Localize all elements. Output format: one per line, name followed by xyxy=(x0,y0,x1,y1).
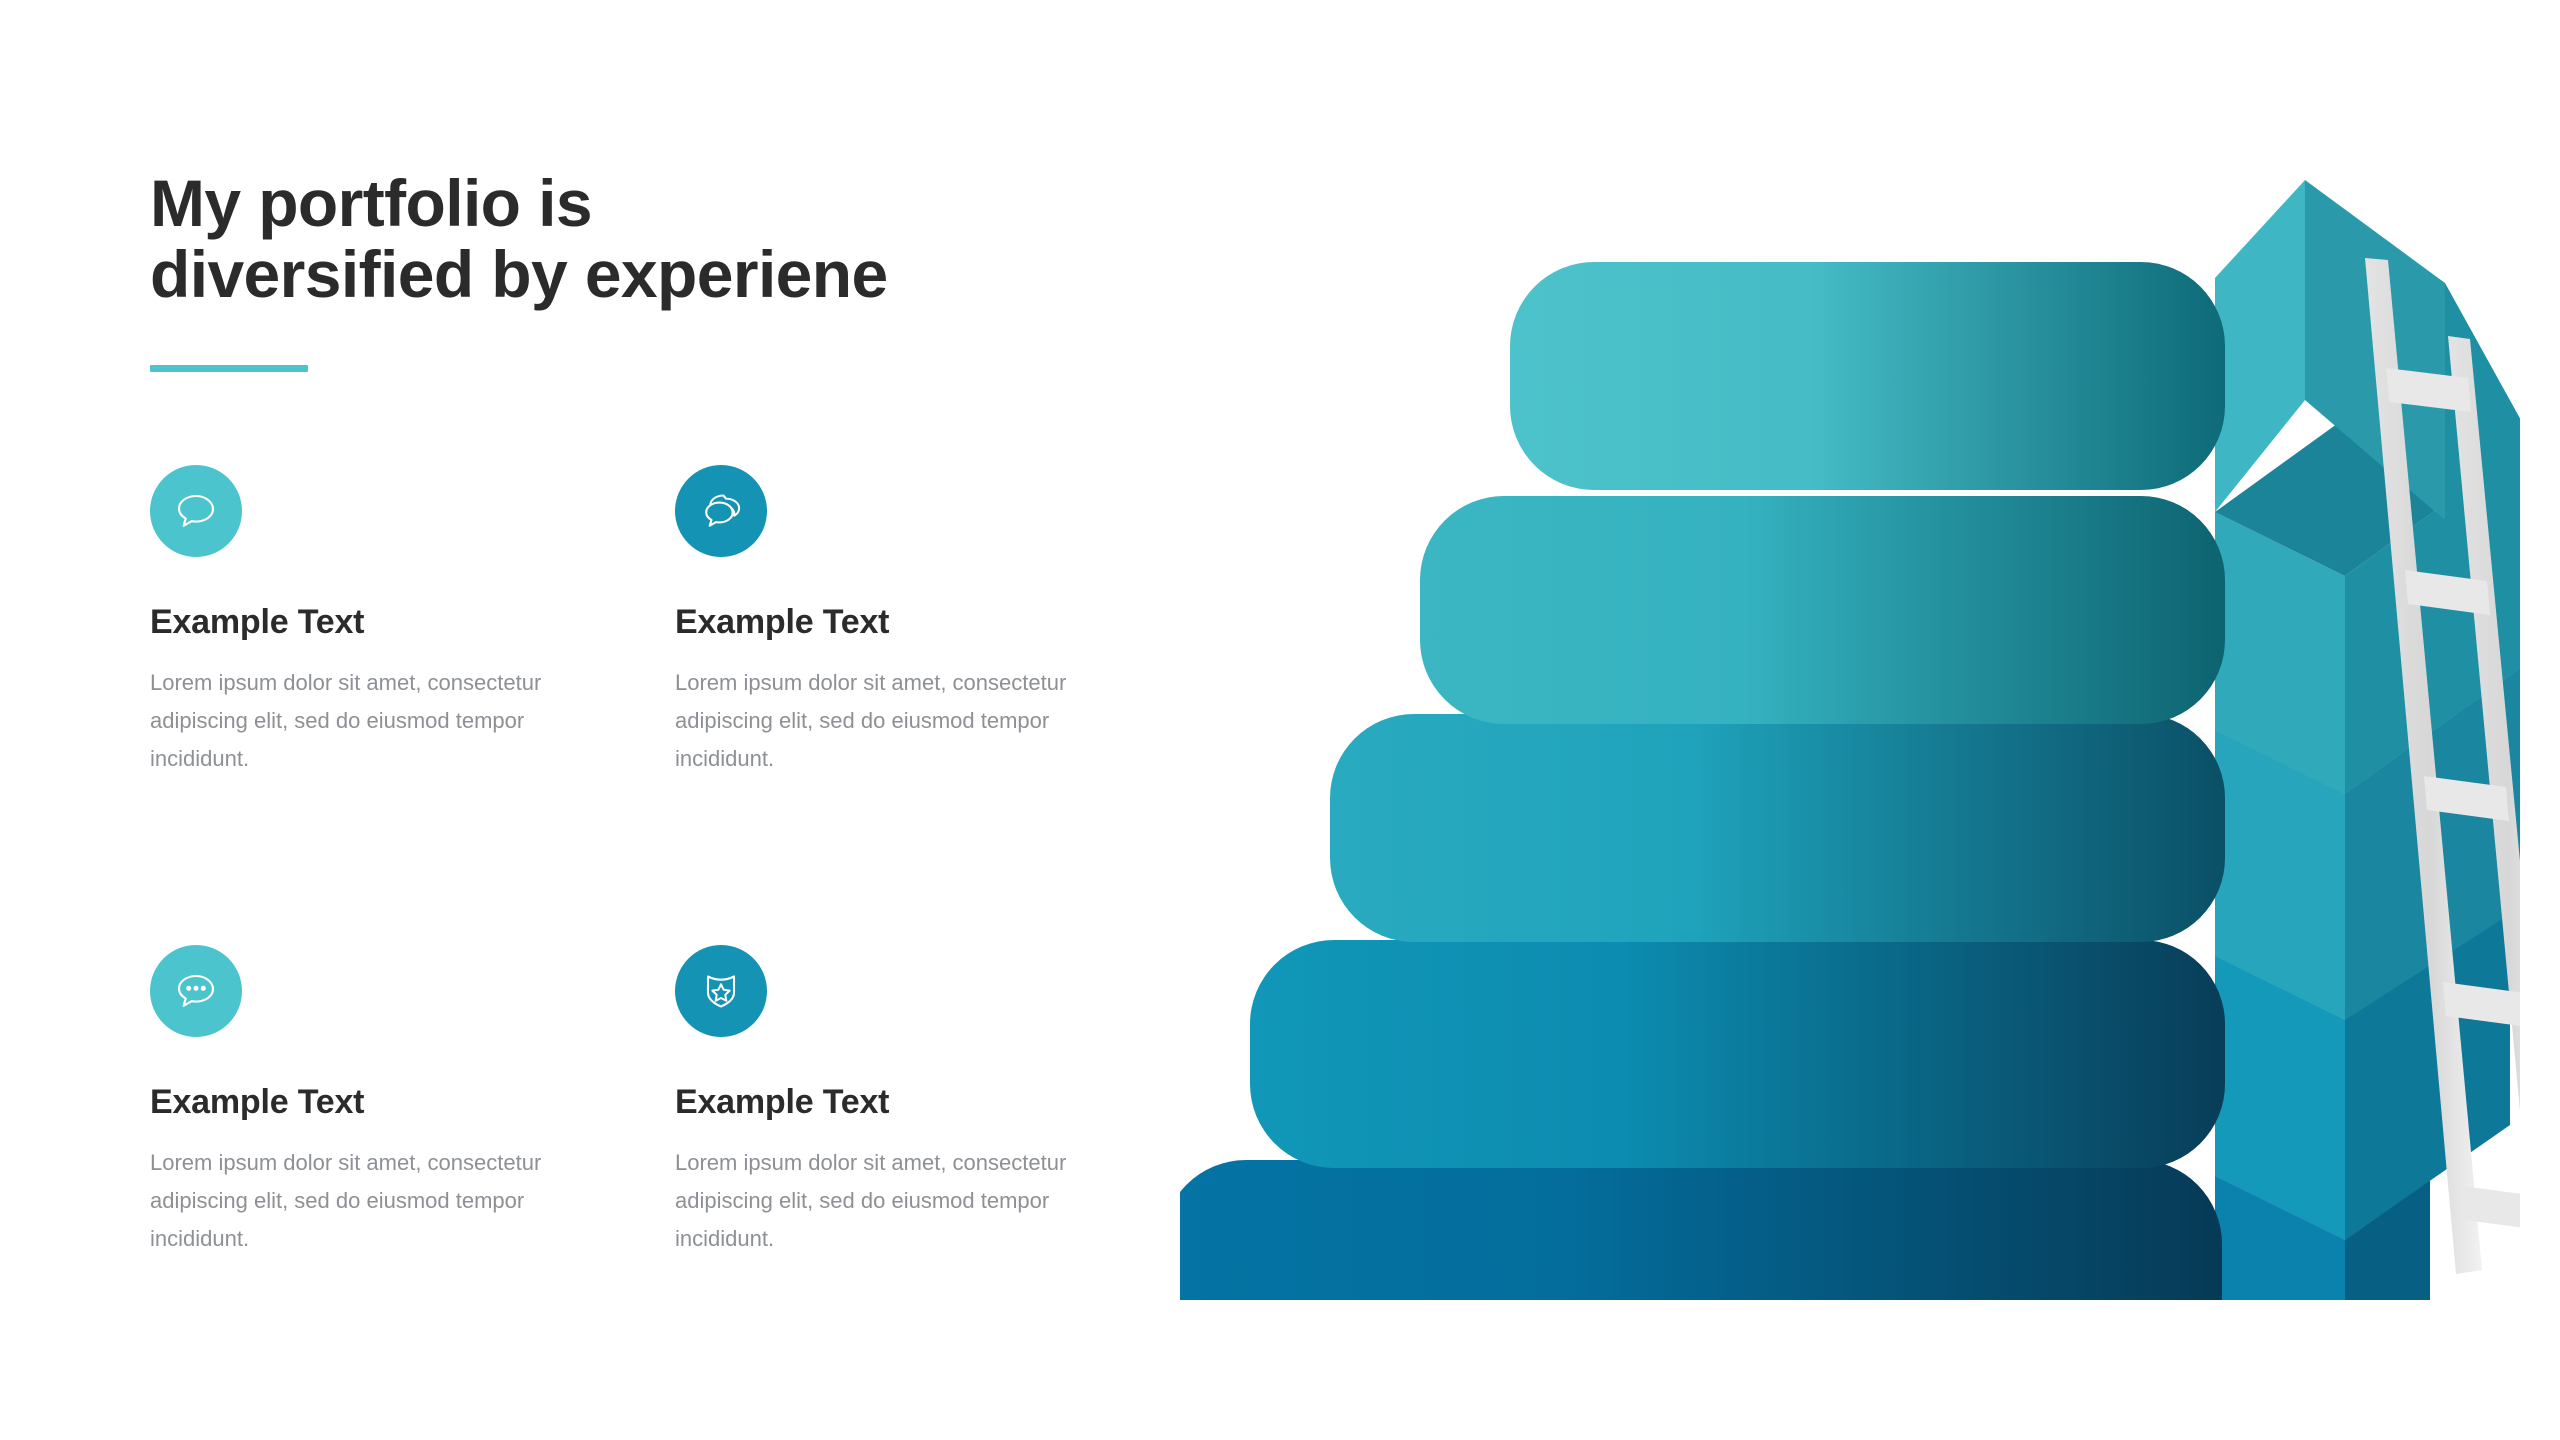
feature-item-3: Example Text Lorem ipsum dolor sit amet,… xyxy=(150,945,620,1257)
feature-body: Lorem ipsum dolor sit amet, consectetur … xyxy=(675,1144,1115,1257)
feature-title: Example Text xyxy=(675,1083,1145,1122)
stacked-3d-bars-with-ladder-illustration xyxy=(1180,140,2520,1300)
left-content-column: My portfolio is diversified by experiene xyxy=(150,168,1150,372)
feature-item-2: Example Text Lorem ipsum dolor sit amet,… xyxy=(675,465,1145,777)
shield-star-icon[interactable] xyxy=(675,945,767,1037)
feature-item-1: Example Text Lorem ipsum dolor sit amet,… xyxy=(150,465,620,777)
feature-title: Example Text xyxy=(150,603,620,642)
feature-body: Lorem ipsum dolor sit amet, consectetur … xyxy=(150,1144,590,1257)
feature-body: Lorem ipsum dolor sit amet, consectetur … xyxy=(150,664,590,777)
speech-bubble-dots-icon[interactable] xyxy=(150,945,242,1037)
feature-item-4: Example Text Lorem ipsum dolor sit amet,… xyxy=(675,945,1145,1257)
feature-body: Lorem ipsum dolor sit amet, consectetur … xyxy=(675,664,1115,777)
feature-title: Example Text xyxy=(150,1083,620,1122)
features-grid: Example Text Lorem ipsum dolor sit amet,… xyxy=(150,465,1170,1258)
page-title: My portfolio is diversified by experiene xyxy=(150,168,1150,311)
feature-title: Example Text xyxy=(675,603,1145,642)
speech-bubble-icon[interactable] xyxy=(150,465,242,557)
slide-root: My portfolio is diversified by experiene… xyxy=(0,0,2560,1440)
double-speech-bubble-icon[interactable] xyxy=(675,465,767,557)
title-divider xyxy=(150,365,308,372)
